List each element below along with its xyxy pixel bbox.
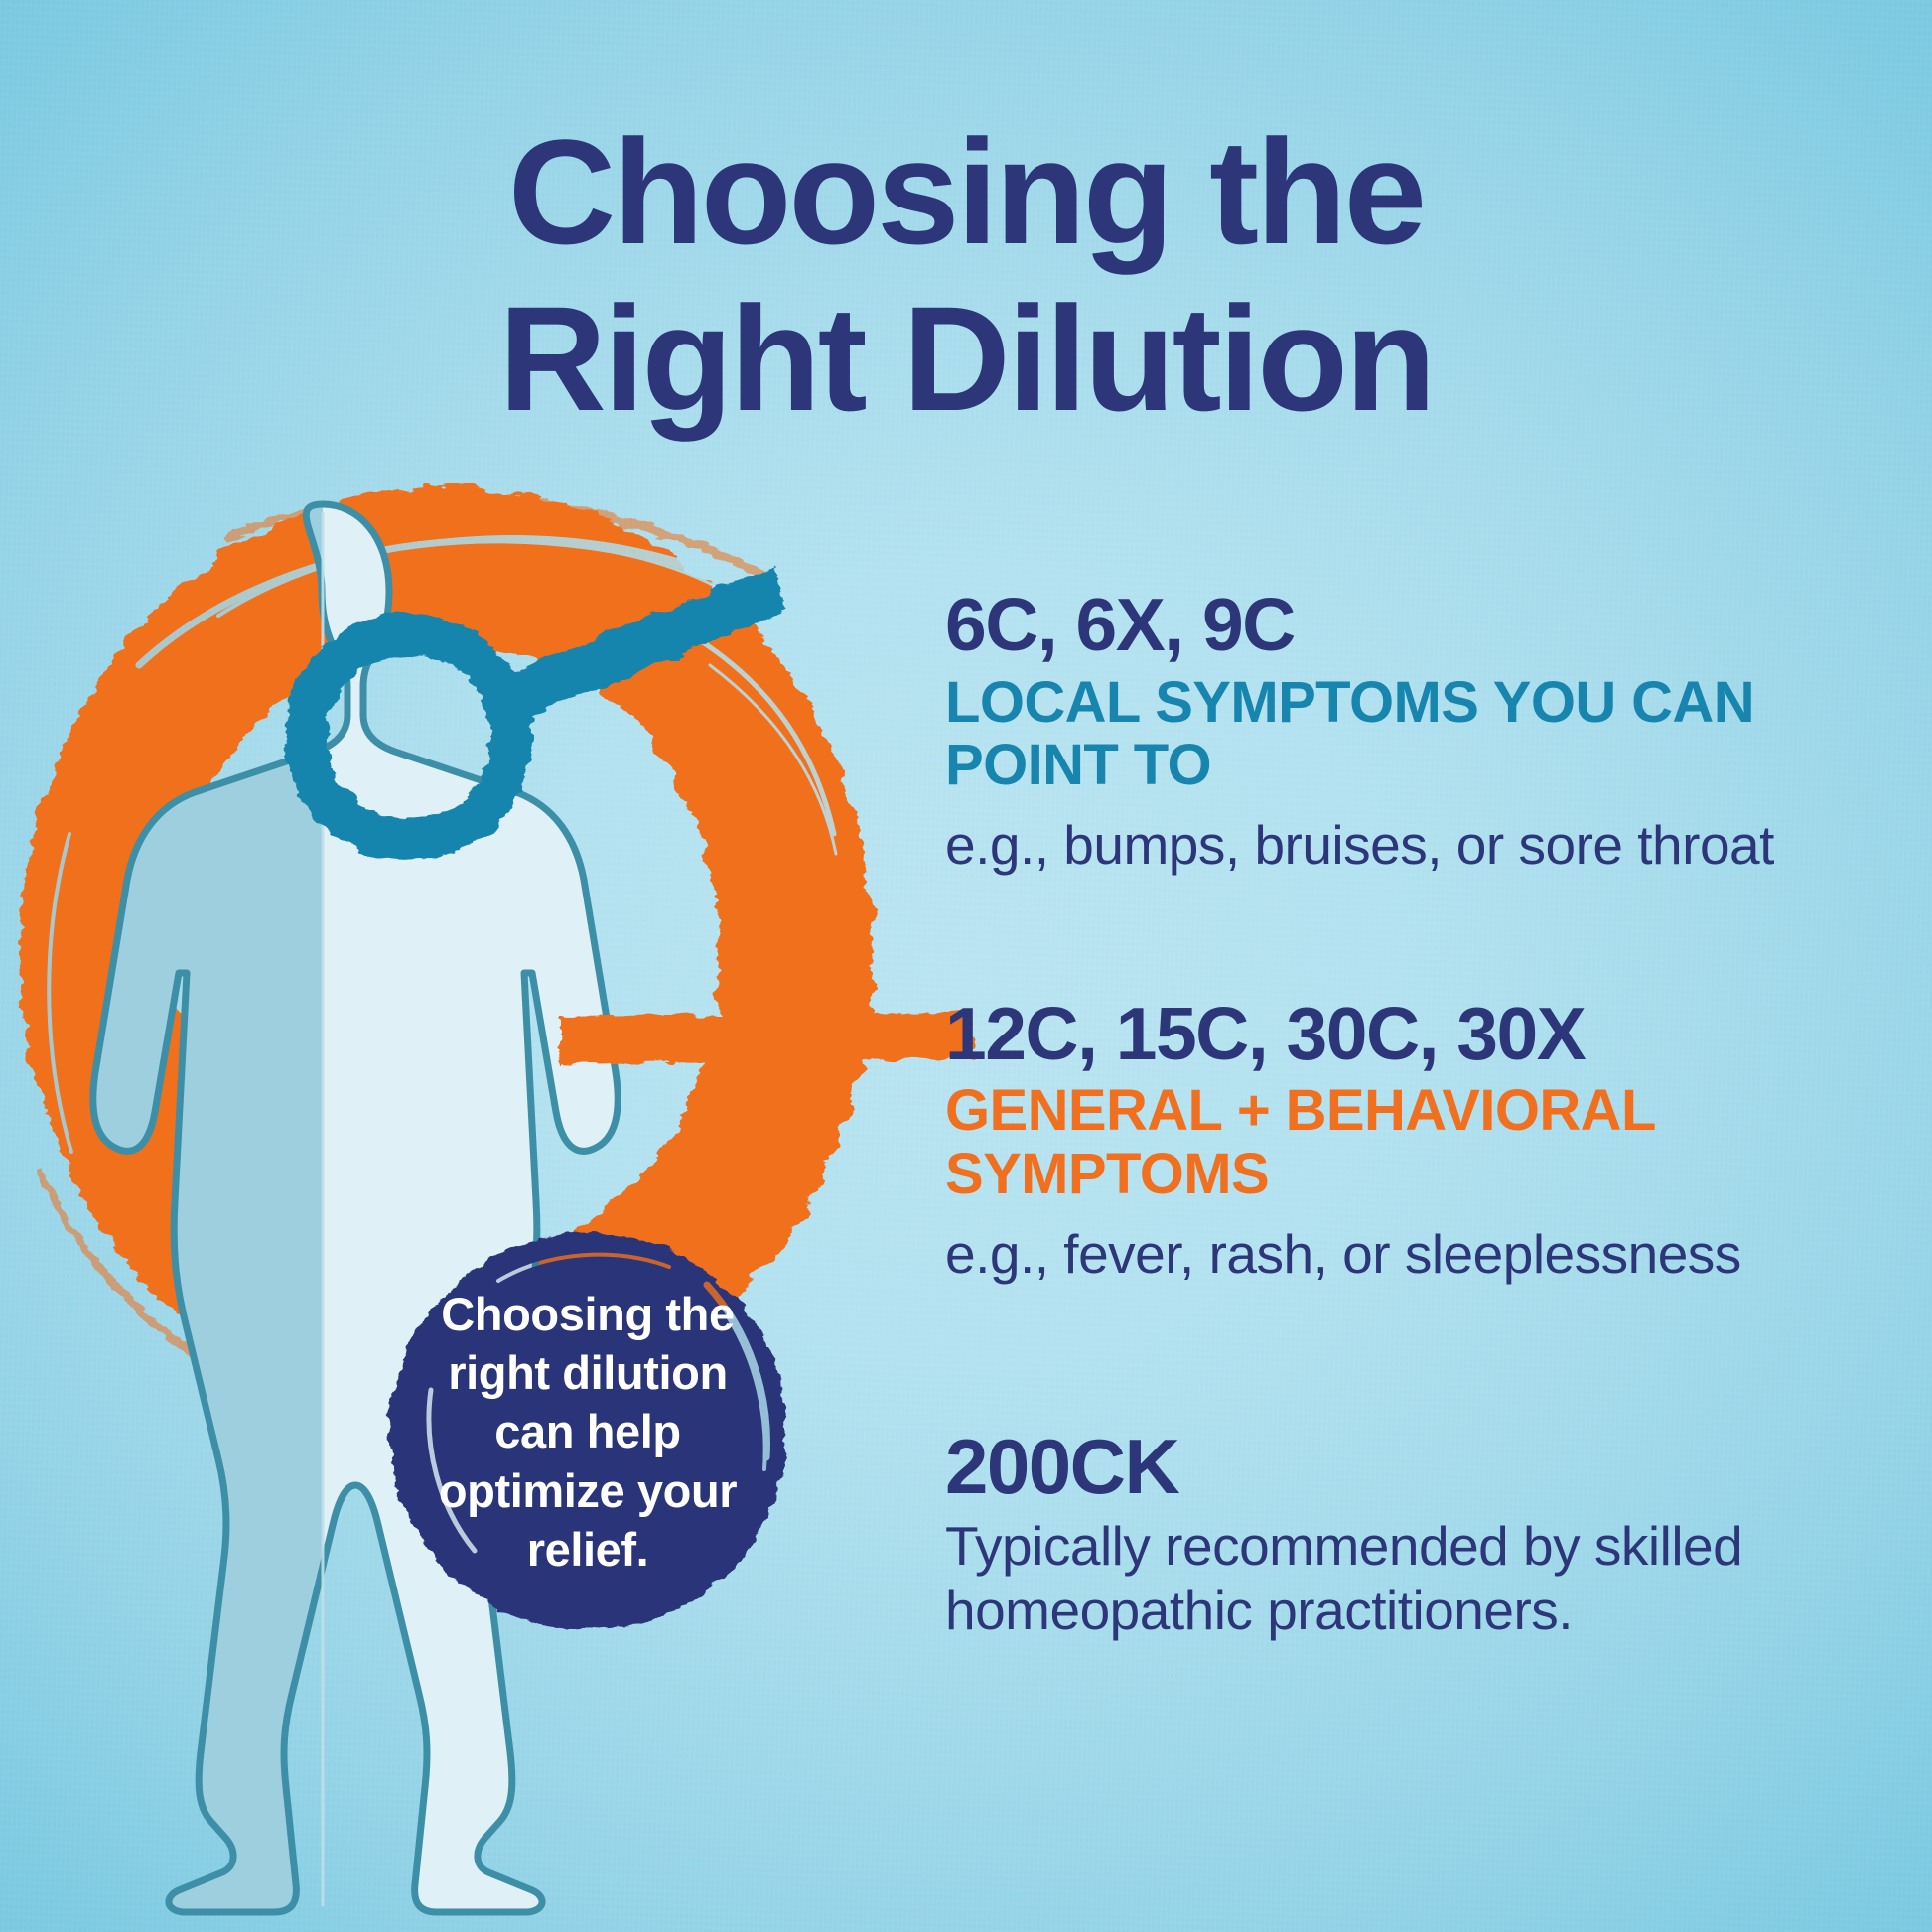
dilution-item-1: 6C, 6X, 9C LOCAL SYMPTOMS YOU CAN POINT …: [945, 586, 1868, 878]
dilution-example-3: Typically recommended by skilled homeopa…: [945, 1514, 1839, 1643]
tip-badge: Choosing the right dilution can help opt…: [379, 1223, 796, 1640]
dilution-subtitle-2: GENERAL + BEHAVIORAL SYMPTOMS: [945, 1079, 1868, 1206]
infographic-poster: Choosing the Right Dilution: [0, 0, 1932, 1932]
orange-connector-line: [561, 1013, 973, 1064]
dilution-code-1: 6C, 6X, 9C: [945, 586, 1868, 665]
title-line-2: Right Dilution: [0, 284, 1932, 433]
dilution-example-2: e.g., fever, rash, or sleeplessness: [945, 1222, 1868, 1287]
dilution-item-3: 200CK Typically recommended by skilled h…: [945, 1426, 1868, 1642]
badge-text: Choosing the right dilution can help opt…: [379, 1223, 796, 1640]
dilution-list: 6C, 6X, 9C LOCAL SYMPTOMS YOU CAN POINT …: [945, 586, 1868, 1642]
dilution-code-2: 12C, 15C, 30C, 30X: [945, 995, 1868, 1074]
dilution-code-3: 200CK: [945, 1426, 1868, 1508]
artwork-illustration: [0, 417, 973, 1932]
dilution-subtitle-1: LOCAL SYMPTOMS YOU CAN POINT TO: [945, 671, 1868, 798]
dilution-item-2: 12C, 15C, 30C, 30X GENERAL + BEHAVIORAL …: [945, 995, 1868, 1287]
dilution-example-1: e.g., bumps, bruises, or sore throat: [945, 813, 1868, 878]
title-line-1: Choosing the: [0, 117, 1932, 266]
page-title: Choosing the Right Dilution: [0, 117, 1932, 433]
